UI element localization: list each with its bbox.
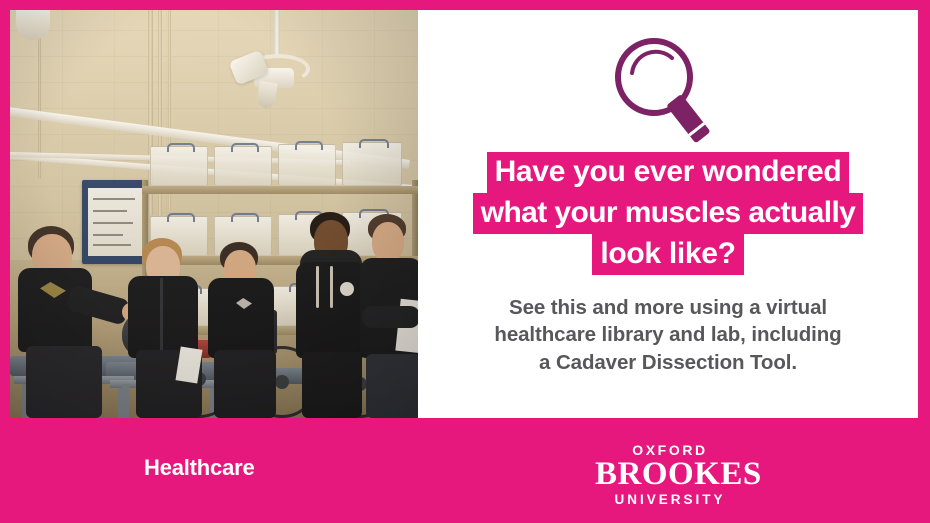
magnifying-glass-icon bbox=[606, 32, 730, 144]
supporting-text: See this and more using a virtual health… bbox=[436, 294, 900, 376]
department-label: Healthcare bbox=[144, 455, 255, 481]
photo-vignette bbox=[10, 10, 418, 418]
promotional-banner: Have you ever wondered what your muscles… bbox=[0, 0, 930, 523]
logo-line-brookes: BROOKES bbox=[595, 458, 745, 492]
logo-line-university: UNIVERSITY bbox=[595, 493, 745, 507]
supporting-text-line-1: See this and more using a virtual bbox=[436, 294, 900, 321]
oxford-brookes-logo: OXFORD BROOKES UNIVERSITY bbox=[595, 443, 745, 506]
supporting-text-line-2: healthcare library and lab, including bbox=[436, 321, 900, 348]
message-panel: Have you ever wondered what your muscles… bbox=[418, 10, 918, 418]
headline-line-1: Have you ever wondered bbox=[436, 152, 900, 193]
headline-line-3: look like? bbox=[436, 234, 900, 275]
headline-line-2: what your muscles actually bbox=[436, 193, 900, 234]
logo-line-oxford: OXFORD bbox=[595, 443, 745, 457]
content-area: Have you ever wondered what your muscles… bbox=[10, 10, 918, 418]
footer-bar bbox=[0, 418, 930, 523]
headline: Have you ever wondered what your muscles… bbox=[436, 152, 900, 275]
supporting-text-line-3: a Cadaver Dissection Tool. bbox=[436, 349, 900, 376]
healthcare-lab-photo bbox=[10, 10, 418, 418]
